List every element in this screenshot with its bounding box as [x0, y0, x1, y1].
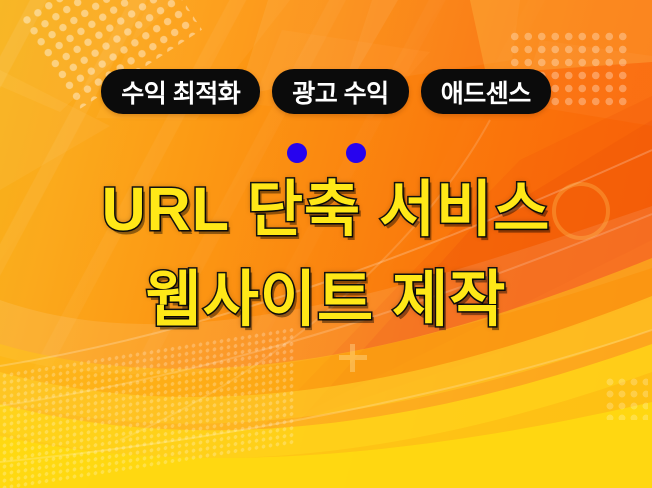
headline: URL 단축 서비스 웹사이트 제작 — [0, 168, 652, 340]
blue-dot-left-icon — [287, 143, 307, 163]
plus-icon — [339, 344, 367, 372]
headline-line-1: URL 단축 서비스 — [0, 168, 652, 250]
badge-adsense[interactable]: 애드센스 — [421, 69, 551, 114]
badge-revenue-optimization[interactable]: 수익 최적화 — [101, 69, 260, 114]
badge-row: 수익 최적화 광고 수익 애드센스 — [0, 69, 652, 114]
blue-dot-right-icon — [346, 143, 366, 163]
dot-grid-pattern-bottom-right — [604, 376, 648, 420]
promo-banner: 수익 최적화 광고 수익 애드센스 URL 단축 서비스 웹사이트 제작 — [0, 0, 652, 488]
badge-ad-revenue[interactable]: 광고 수익 — [272, 69, 408, 114]
accent-dot-pair — [0, 143, 652, 163]
headline-line-2: 웹사이트 제작 — [0, 258, 652, 340]
dot-mesh-pattern-bottom-left — [0, 326, 294, 488]
